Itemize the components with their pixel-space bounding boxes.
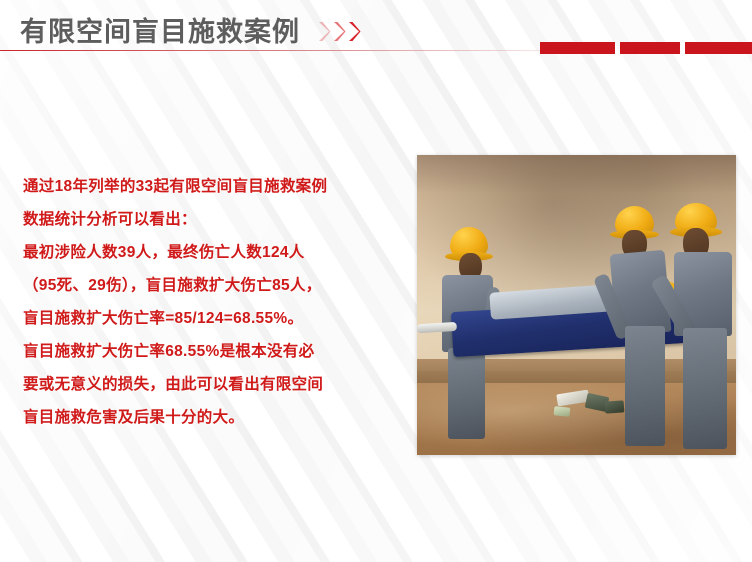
body-line: 要或无意义的损失，由此可以看出有限空间 [23, 368, 408, 401]
worker-legs [683, 328, 727, 449]
body-line: 通过18年列举的33起有限空间盲目施救案例 [23, 170, 408, 203]
body-text-block: 通过18年列举的33起有限空间盲目施救案例 数据统计分析可以看出： 最初涉险人数… [23, 170, 408, 434]
slide-header: 有限空间盲目施救案例 [0, 0, 752, 56]
chevron-right-icon-2 [333, 21, 346, 42]
header-block-1 [540, 42, 615, 54]
chevron-right-icon-3 [348, 21, 361, 42]
body-line: 最初涉险人数39人，最终伤亡人数124人 [23, 236, 408, 269]
slide-root: 有限空间盲目施救案例 通过18年列举的33起有限空间盲目施救案例 数据统计分析可… [0, 0, 752, 562]
debris-item [554, 406, 571, 417]
page-title: 有限空间盲目施救案例 [20, 10, 300, 49]
header-accent-blocks [540, 42, 752, 54]
worker-legs [448, 348, 485, 439]
header-divider-rule [0, 50, 600, 51]
body-line: 盲目施救危害及后果十分的大。 [23, 401, 408, 434]
worker-right [672, 203, 736, 449]
rescue-photo [417, 155, 736, 455]
double-chevron-right-icon [318, 21, 361, 42]
worker-legs [625, 326, 665, 446]
body-line: 盲目施救扩大伤亡率68.55%是根本没有必 [23, 335, 408, 368]
body-line: 数据统计分析可以看出： [23, 203, 408, 236]
header-block-2 [620, 42, 680, 54]
body-line: 盲目施救扩大伤亡率=85/124=68.55%。 [23, 302, 408, 335]
header-block-3 [685, 42, 752, 54]
debris-item [605, 400, 625, 413]
chevron-right-icon-1 [318, 21, 331, 42]
body-line: （95死、29伤），盲目施救扩大伤亡85人， [23, 269, 408, 302]
